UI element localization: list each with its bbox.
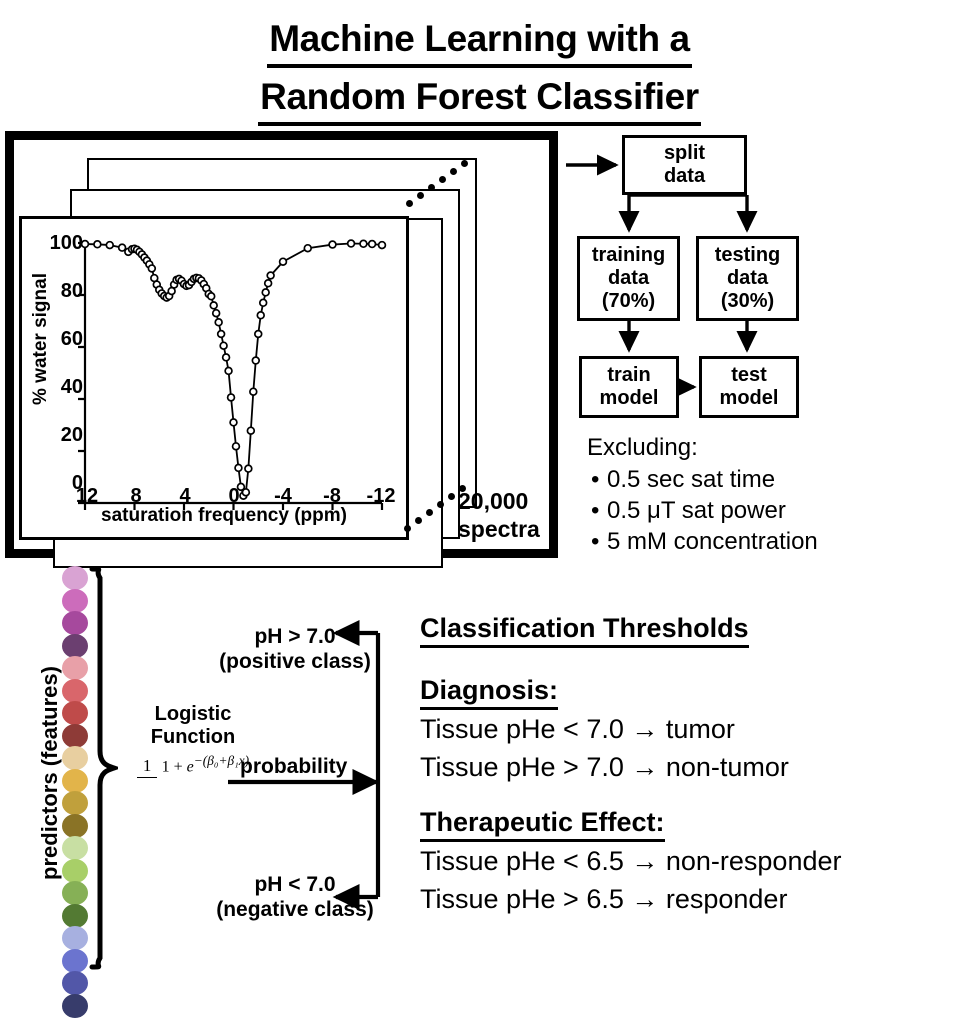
predictors-brace-icon [88, 566, 118, 976]
excluding-item: 0.5 sec sat time [587, 464, 959, 495]
data-point [230, 419, 237, 426]
data-point [267, 272, 274, 279]
data-point [348, 240, 355, 247]
therapeutic-rule: Tissue pHe < 6.5 → non-responder [420, 842, 959, 880]
data-point [228, 394, 235, 401]
data-point [106, 242, 113, 249]
data-point [233, 443, 240, 450]
data-point [369, 241, 376, 248]
spectra-count-label: 20,000 spectra [458, 487, 558, 543]
feature-color-dot [62, 881, 88, 905]
feature-color-dot [62, 814, 88, 838]
data-point [255, 331, 262, 338]
data-point [262, 289, 269, 296]
feature-color-dot [62, 679, 88, 703]
negative-class-name: (negative class) [215, 897, 375, 922]
predictors-axis-label: predictors (features) [37, 633, 63, 913]
formula-den-prefix: 1 + [162, 758, 187, 775]
feature-color-dot [62, 566, 88, 590]
feature-color-dot [62, 971, 88, 995]
feature-color-dot [62, 634, 88, 658]
data-point [329, 241, 336, 248]
excluding-items: 0.5 sec sat time 0.5 μT sat power 5 mM c… [587, 464, 959, 557]
data-point [360, 240, 367, 247]
feature-color-dot [62, 611, 88, 635]
negative-class-label: pH < 7.0 (negative class) [215, 872, 375, 922]
plot-canvas [19, 216, 409, 540]
excluding-heading: Excluding: [587, 432, 959, 463]
positive-class-condition: pH > 7.0 [215, 624, 375, 649]
testing-line-2: data [727, 267, 768, 290]
train-model-line-1: train [607, 364, 650, 387]
data-point [252, 357, 259, 364]
feature-color-dot [62, 994, 88, 1018]
excluding-item: 5 mM concentration [587, 526, 959, 557]
flow-box-testing-data[interactable]: testing data (30%) [696, 236, 799, 321]
flow-box-training-data[interactable]: training data (70%) [577, 236, 680, 321]
excluding-list: Excluding: 0.5 sec sat time 0.5 μT sat p… [587, 432, 959, 557]
feature-color-dot [62, 836, 88, 860]
split-line-2: data [664, 165, 705, 188]
training-line-1: training [592, 244, 665, 267]
data-point [82, 241, 89, 248]
data-point [280, 258, 287, 265]
feature-color-dot [62, 949, 88, 973]
data-point [223, 354, 230, 361]
therapeutic-rule: Tissue pHe > 6.5 → responder [420, 880, 959, 918]
split-line-1: split [664, 142, 705, 165]
data-point [208, 293, 215, 300]
negative-class-condition: pH < 7.0 [215, 872, 375, 897]
training-line-3: (70%) [602, 290, 655, 313]
data-point [265, 280, 272, 287]
stack-dots-upper-icon [406, 155, 496, 215]
data-point [260, 299, 267, 306]
flow-box-test-model[interactable]: test model [699, 356, 799, 418]
data-point [245, 465, 252, 472]
feature-color-dot [62, 926, 88, 950]
feature-color-dot [62, 859, 88, 883]
feature-color-dot [62, 746, 88, 770]
excluding-item: 0.5 μT sat power [587, 495, 959, 526]
z-spectrum-chart: % water signal saturation frequency (ppm… [19, 216, 409, 540]
positive-class-name: (positive class) [215, 649, 375, 674]
data-point [220, 342, 227, 349]
diagnosis-rule: Tissue pHe > 7.0 → non-tumor [420, 748, 959, 786]
testing-line-3: (30%) [721, 290, 774, 313]
data-point [218, 331, 225, 338]
title-line-2: Random Forest Classifier [258, 72, 701, 126]
title-line-1: Machine Learning with a [267, 14, 691, 68]
data-point [247, 427, 254, 434]
data-point [148, 265, 155, 272]
feature-color-dot [62, 904, 88, 928]
classification-thresholds-panel: Classification Thresholds Diagnosis: Tis… [420, 612, 959, 918]
data-point [379, 242, 386, 249]
diagnosis-rule: Tissue pHe < 7.0 → tumor [420, 710, 959, 748]
thresholds-heading: Classification Thresholds [420, 612, 749, 648]
feature-color-legend [62, 566, 88, 1016]
data-point [225, 368, 232, 375]
page-title: Machine Learning with a Random Forest Cl… [0, 14, 959, 126]
test-model-line-1: test [731, 364, 767, 387]
spectra-count-number: 20,000 [458, 487, 558, 515]
data-point [215, 319, 222, 326]
flow-box-train-model[interactable]: train model [579, 356, 679, 418]
data-point [210, 302, 217, 309]
diagnosis-heading: Diagnosis: [420, 674, 558, 710]
feature-color-dot [62, 769, 88, 793]
training-line-2: data [608, 267, 649, 290]
data-point [94, 241, 101, 248]
data-point [304, 245, 311, 252]
feature-color-dot [62, 701, 88, 725]
data-point [242, 489, 249, 496]
ml-workflow-flowchart: split data training data (70%) testing d… [566, 131, 959, 431]
test-model-line-2: model [720, 387, 779, 410]
data-point [250, 388, 257, 395]
data-point [257, 312, 264, 319]
testing-line-1: testing [715, 244, 781, 267]
spectra-count-word: spectra [458, 515, 558, 543]
therapeutic-heading: Therapeutic Effect: [420, 806, 665, 842]
feature-color-dot [62, 724, 88, 748]
positive-class-label: pH > 7.0 (positive class) [215, 624, 375, 674]
flow-box-split-data[interactable]: split data [622, 135, 747, 195]
formula-exp-base: e [187, 758, 194, 775]
feature-color-dot [62, 589, 88, 613]
feature-color-dot [62, 791, 88, 815]
train-model-line-2: model [600, 387, 659, 410]
data-point [235, 465, 242, 472]
feature-color-dot [62, 656, 88, 680]
data-point [213, 310, 220, 317]
formula-numerator: 1 [137, 756, 158, 778]
